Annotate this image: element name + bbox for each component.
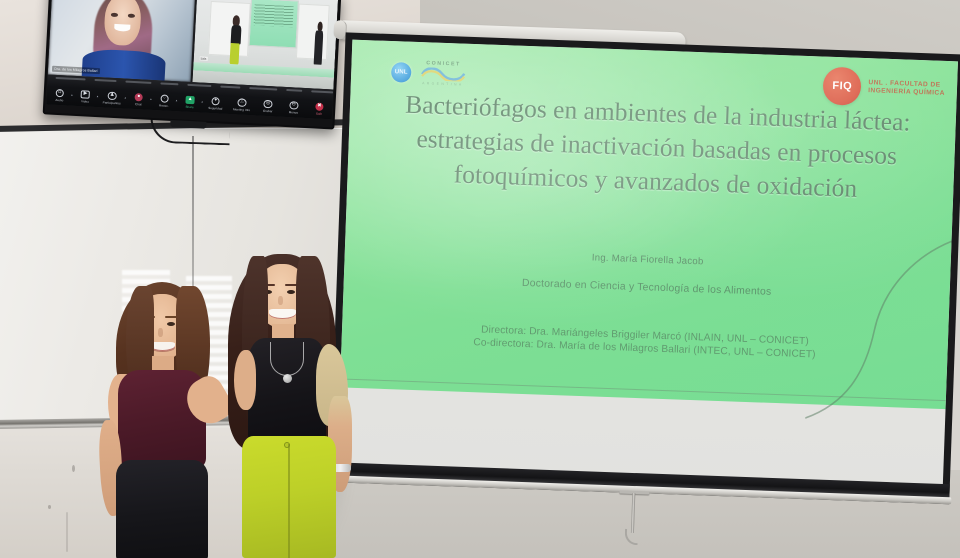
toolbar-button-participants[interactable]: ♟ Participantes ▴: [103, 91, 122, 105]
presenter-top: [231, 25, 241, 45]
toolbar-button-chat[interactable]: ● Chat ▴: [130, 92, 147, 106]
participant-torso: [82, 49, 166, 81]
toolbar-button-label: Chat: [135, 102, 142, 106]
share-screen-icon: ▲: [186, 95, 195, 104]
fiq-line-2: INGENIERÍA QUÍMICA: [868, 87, 945, 98]
chat-icon: ●: [134, 93, 143, 102]
person-right: [212, 246, 352, 558]
participant-smile: [114, 24, 130, 31]
screenshot-root: Dra. de los Milagros Ballari: [0, 0, 960, 558]
people-group: [96, 246, 352, 558]
toolbar-button-label: Video: [81, 99, 89, 103]
remote-participant-tile[interactable]: Dra. de los Milagros Ballari: [48, 0, 196, 82]
tv-screen: Dra. de los Milagros Ballari: [46, 0, 338, 119]
participant-eye: [111, 13, 118, 17]
toolbar-button-label: Participantes: [103, 100, 121, 105]
toolbar-button-label: Reacc.: [159, 103, 169, 107]
more-icon: ⊖: [289, 101, 298, 110]
toolbar-button-audio[interactable]: ⍝ Audio ▴: [51, 88, 68, 102]
shield-icon: ✦: [211, 97, 220, 106]
participant-eye: [128, 14, 135, 18]
toolbar-button-share-screen[interactable]: ▲ Share ▴: [182, 95, 199, 109]
chevron-up-icon[interactable]: ▴: [150, 96, 152, 100]
fiq-badge: FIQ: [823, 67, 862, 106]
wall-mounted-tv: Dra. de los Milagros Ballari: [43, 0, 342, 130]
toolbar-button-label: Meeting Info: [233, 107, 250, 112]
slide-text-lines: [254, 4, 294, 27]
chevron-up-icon[interactable]: ▴: [71, 92, 73, 96]
chevron-up-icon[interactable]: ▴: [97, 94, 99, 98]
toolbar-button-record[interactable]: ◎ Grabar: [260, 99, 277, 113]
nose: [158, 328, 163, 337]
conicet-infinity-icon: [420, 67, 466, 82]
people-icon: ♟: [108, 91, 117, 100]
slide-title: Bacteriófagos en ambientes de la industr…: [377, 87, 936, 209]
hook-stem: [631, 493, 635, 533]
necklace-chain: [270, 342, 304, 376]
attendee-body: [314, 30, 323, 65]
microphone-icon: ⍝: [55, 88, 64, 97]
conicet-wordmark: CONICET: [426, 60, 461, 67]
eye: [167, 322, 175, 326]
toolbar-button-more[interactable]: ⊖ Menos: [285, 100, 302, 114]
toolbar-button-reactions[interactable]: ♡ Reacc. ▴: [156, 94, 173, 108]
toolbar-button-label: Grabar: [263, 109, 273, 113]
projection-screen-assembly: UNL CONICET ARGENTINA FIQ: [317, 0, 960, 516]
toolbar-button-meeting-info[interactable]: ⓘ Meeting Info: [233, 98, 251, 112]
toolbar-button-label: Share: [185, 105, 193, 109]
toolbar-button-security[interactable]: ✦ Seguridad: [207, 96, 224, 110]
nose: [278, 296, 283, 305]
person-left: [96, 270, 226, 558]
eye: [287, 290, 295, 294]
wall-blemish: [48, 505, 51, 509]
room-whiteboard: [295, 4, 329, 60]
toolbar-button-label: Menos: [289, 110, 298, 114]
trouser-seam: [288, 444, 290, 558]
fiq-wordmark: UNL . FACULTAD DE INGENIERÍA QUÍMICA: [868, 79, 945, 97]
room-camera-tile[interactable]: Sala: [193, 0, 339, 90]
unl-logo: UNL: [391, 62, 412, 83]
toolbar-button-label: Audio: [55, 98, 63, 102]
screen-pull-hook[interactable]: [617, 490, 649, 547]
trousers: [116, 460, 208, 558]
hook-curl: [624, 529, 638, 545]
toolbar-button-leave[interactable]: ✖ Salir: [311, 102, 328, 116]
leave-call-icon: ✖: [315, 102, 324, 111]
record-icon: ◎: [264, 99, 273, 108]
slide-logos-left: UNL CONICET ARGENTINA: [391, 59, 467, 87]
chevron-up-icon[interactable]: ▴: [176, 98, 178, 102]
mouth: [269, 309, 296, 319]
toolbar-button-video[interactable]: ▶ Video ▴: [77, 90, 94, 104]
info-icon: ⓘ: [237, 98, 246, 107]
wall-blemish: [66, 512, 68, 552]
arm: [234, 350, 256, 410]
room-tile-caption: Sala: [199, 56, 207, 60]
heart-icon: ♡: [160, 94, 169, 103]
toolbar-button-label: Seguridad: [208, 106, 222, 111]
screen-surface: UNL CONICET ARGENTINA FIQ: [337, 40, 958, 498]
necklace-pendant: [283, 374, 292, 383]
camera-icon: ▶: [81, 90, 90, 99]
room-projection-screen: [248, 0, 298, 49]
toolbar-button-label: Salir: [316, 112, 322, 116]
chevron-up-icon[interactable]: ▴: [124, 95, 126, 99]
wall-blemish: [72, 465, 75, 472]
conicet-logo: CONICET ARGENTINA: [420, 60, 467, 87]
presenter-pants: [230, 43, 240, 64]
projected-slide: UNL CONICET ARGENTINA FIQ: [340, 40, 958, 409]
chevron-up-icon[interactable]: ▴: [201, 99, 203, 103]
slide-decorative-curve: [805, 232, 958, 427]
conicet-subtitle: ARGENTINA: [422, 81, 464, 86]
